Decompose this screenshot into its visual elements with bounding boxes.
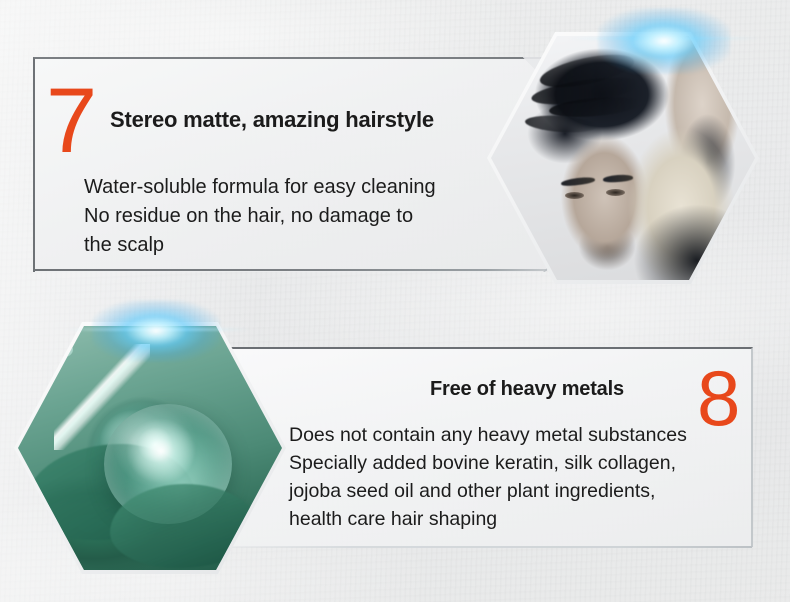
feature-body-8: Does not contain any heavy metal substan…: [289, 421, 759, 533]
green-serum-droplet-photo: [18, 326, 282, 570]
leaf-shape-secondary: [110, 484, 260, 568]
feature-panel-8-bottom-border: [222, 546, 752, 548]
feature-number-7: 7: [46, 75, 97, 167]
hexagon-photo-clip-7: [491, 36, 755, 280]
feature-heading-8: Free of heavy metals: [430, 378, 624, 401]
feature-heading-7: Stereo matte, amazing hairstyle: [110, 107, 434, 133]
feature-body-7: Water-soluble formula for easy cleaning …: [84, 173, 514, 260]
product-feature-infographic: 7 Stereo matte, amazing hairstyle Water-…: [0, 0, 790, 602]
man-styling-hair-photo: [491, 36, 755, 280]
light-flare: [126, 418, 196, 484]
feature-image-hexagon-7: [487, 32, 759, 284]
feature-panel-7-bottom-border: [35, 269, 547, 271]
hexagon-photo-clip-8: [18, 326, 282, 570]
feature-image-hexagon-8: [14, 322, 286, 574]
